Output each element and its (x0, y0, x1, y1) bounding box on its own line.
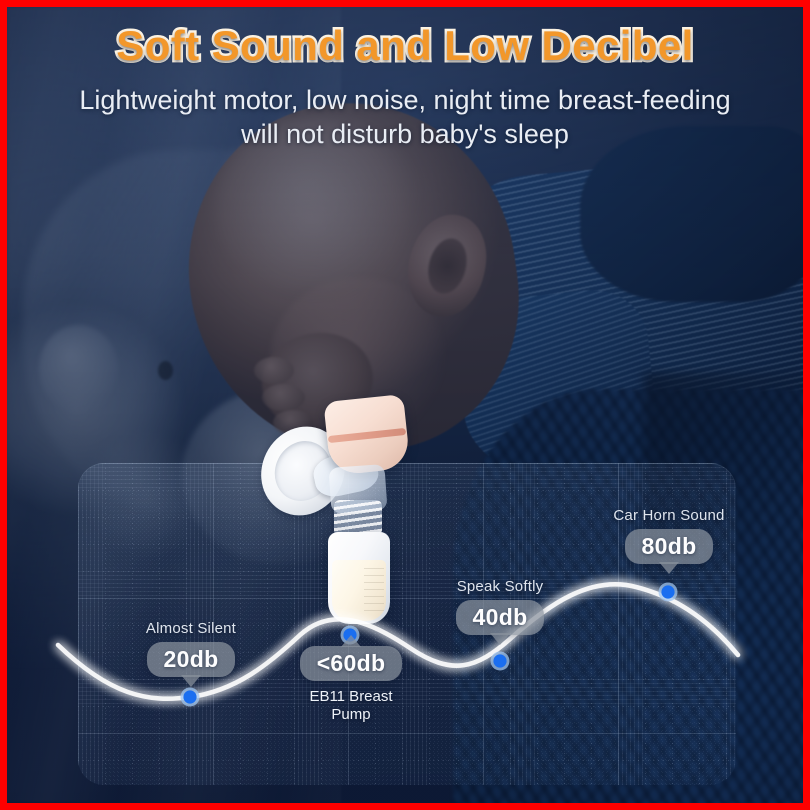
status-badge-20db: 20db (147, 642, 236, 677)
product-image-breast-pump (252, 392, 424, 632)
marker-speak-softly: Speak Softly 40db (441, 578, 559, 635)
status-badge-80db: 80db (625, 529, 714, 564)
promo-banner: Soft Sound and Low Decibel Lightweight m… (0, 0, 810, 810)
status-badge-60db: <60db (300, 646, 403, 681)
pump-bottle-measure-ticks (364, 568, 384, 616)
page-title: Soft Sound and Low Decibel (0, 24, 810, 69)
marker-caption: Car Horn Sound (602, 507, 736, 524)
pump-bottle-thread (334, 500, 382, 536)
status-badge-40db: 40db (456, 600, 545, 635)
headline-block: Soft Sound and Low Decibel Lightweight m… (0, 24, 810, 152)
marker-caption: Almost Silent (132, 620, 250, 637)
marker-caption: Speak Softly (441, 578, 559, 595)
marker-almost-silent: Almost Silent 20db (132, 620, 250, 677)
marker-car-horn-sound: Car Horn Sound 80db (602, 507, 736, 564)
page-subtitle: Lightweight motor, low noise, night time… (75, 83, 735, 152)
marker-sublabel: EB11 Breast Pump (292, 688, 410, 723)
marker-eb11-breast-pump: <60db EB11 Breast Pump (292, 641, 410, 723)
